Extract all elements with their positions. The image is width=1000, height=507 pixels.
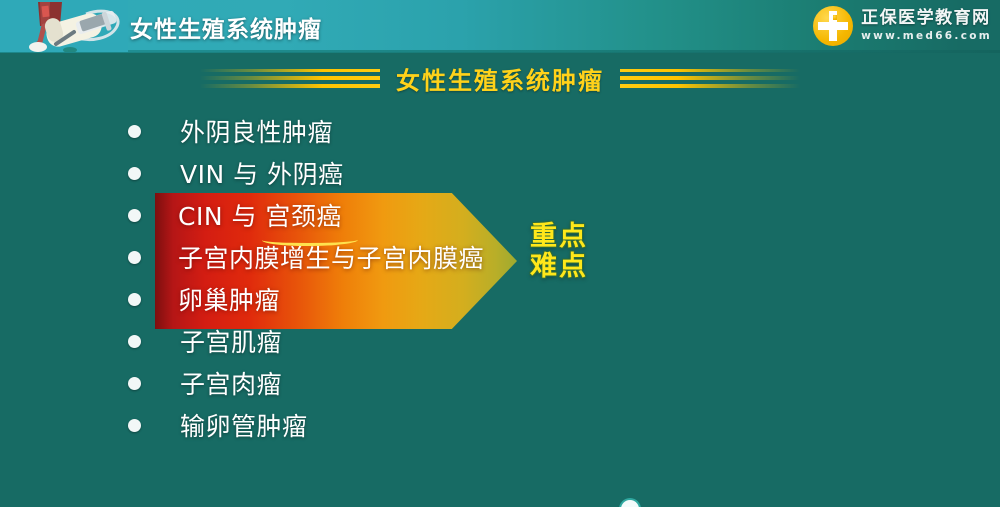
list-item[interactable]: 输卵管肿瘤 [0, 404, 620, 446]
medical-syringe-illustration [0, 0, 128, 52]
list-item[interactable]: 子宫内膜增生与子宫内膜癌 [0, 236, 620, 278]
logo-website-url: www.med66.com [861, 31, 992, 42]
list-item[interactable]: 外阴良性肿瘤 [0, 110, 620, 152]
key-difficult-label: 重点 难点 [530, 222, 588, 282]
player-control-nub[interactable] [619, 498, 641, 507]
list-item[interactable]: 子宫肉瘤 [0, 362, 620, 404]
bullet-dot-icon [128, 293, 141, 306]
bullet-dot-icon [128, 335, 141, 348]
bullet-dot-icon [128, 377, 141, 390]
list-item-label: VIN 与 外阴癌 [180, 155, 344, 191]
bullet-dot-icon [128, 251, 141, 264]
presentation-slide: 女性生殖系统肿瘤 正保医学教育网 www.med66.com 女性生殖系统肿瘤 … [0, 0, 1000, 507]
list-item-label: 输卵管肿瘤 [180, 407, 308, 443]
slide-title-row: 女性生殖系统肿瘤 [0, 58, 1000, 98]
title-decoration-right-icon [620, 63, 800, 93]
key-label-line2: 难点 [530, 252, 588, 282]
title-decoration-left-icon [200, 63, 380, 93]
list-item-label: 外阴良性肿瘤 [180, 113, 333, 149]
bullet-dot-icon [128, 125, 141, 138]
slide-title: 女性生殖系统肿瘤 [380, 61, 620, 96]
list-item[interactable]: 子宫肌瘤 [0, 320, 620, 362]
medical-cross-logo-icon [813, 6, 853, 46]
key-label-line1: 重点 [530, 222, 588, 252]
bullet-dot-icon [128, 167, 141, 180]
site-logo[interactable]: 正保医学教育网 www.med66.com [813, 1, 992, 51]
list-item-label: 卵巢肿瘤 [178, 281, 280, 317]
list-item[interactable]: 卵巢肿瘤 [0, 278, 620, 320]
list-item-label: 子宫肌瘤 [180, 323, 282, 359]
logo-brand-name: 正保医学教育网 [861, 10, 992, 27]
list-item-label: 子宫内膜增生与子宫内膜癌 [178, 239, 484, 275]
bullet-dot-icon [128, 209, 141, 222]
bullet-dot-icon [128, 419, 141, 432]
logo-text-block: 正保医学教育网 www.med66.com [861, 10, 992, 42]
list-item[interactable]: VIN 与 外阴癌 [0, 152, 620, 194]
list-item-label: 子宫肉瘤 [180, 365, 282, 401]
header-title: 女性生殖系统肿瘤 [130, 10, 322, 44]
topic-list: 外阴良性肿瘤 VIN 与 外阴癌 CIN 与 宫颈癌 子宫内膜增生与子宫内膜癌 … [0, 110, 620, 446]
list-item-label: CIN 与 宫颈癌 [178, 197, 342, 233]
list-item[interactable]: CIN 与 宫颈癌 [0, 194, 620, 236]
